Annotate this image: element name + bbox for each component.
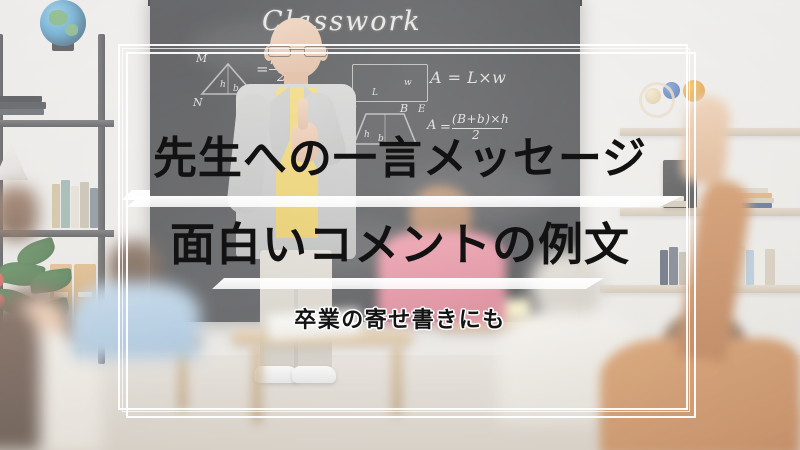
- thumbnail-banner: Classwork M N h b = b·h 2 L w A = L×w: [0, 0, 800, 450]
- headline-line-2: 面白いコメントの例文: [0, 216, 800, 274]
- title-band-secondary: [212, 278, 604, 289]
- headline-line-1: 先生への一言メッセージ: [0, 130, 800, 188]
- title-band-primary: [126, 196, 682, 207]
- overlay-text-block: 先生への一言メッセージ 面白いコメントの例文 卒業の寄せ書きにも: [0, 0, 800, 450]
- subtitle: 卒業の寄せ書きにも: [0, 302, 800, 334]
